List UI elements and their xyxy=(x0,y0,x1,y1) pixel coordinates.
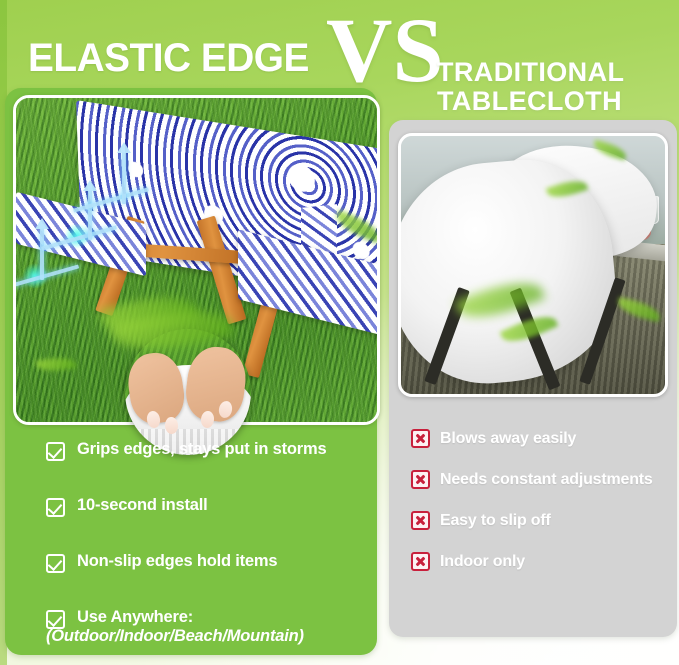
feature-item: 10-second install xyxy=(46,496,366,544)
x-mark-icon xyxy=(411,552,430,571)
x-mark-icon xyxy=(411,429,430,448)
drawback-label: Needs constant adjustments xyxy=(440,471,653,488)
wind-arrow-stem-1 xyxy=(40,228,44,280)
wind-arrow-head-3 xyxy=(117,142,131,153)
checkbox-icon xyxy=(46,610,65,629)
header-right-title: TRADITIONAL TABLECLOTH xyxy=(437,58,624,116)
header-right-title-line1: TRADITIONAL xyxy=(437,58,624,87)
feature-item: Grips edges, stays put in storms xyxy=(46,440,366,488)
header-left-title: ELASTIC EDGE xyxy=(28,36,309,81)
feature-label: Grips edges, stays put in storms xyxy=(77,440,326,458)
traditional-tablecloth-photo xyxy=(398,133,668,397)
elastic-edge-feature-list: Grips edges, stays put in storms 10-seco… xyxy=(46,440,366,664)
drawback-item: Blows away easily xyxy=(411,428,671,469)
drawback-item: Indoor only xyxy=(411,551,671,592)
drawback-label: Easy to slip off xyxy=(440,512,551,529)
feature-label: Non-slip edges hold items xyxy=(77,552,277,570)
checkbox-icon xyxy=(46,554,65,573)
checkbox-icon xyxy=(46,442,65,461)
drawback-label: Indoor only xyxy=(440,553,525,570)
header-right-title-line2: TABLECLOTH xyxy=(437,87,624,116)
drawback-label: Blows away easily xyxy=(440,430,576,447)
feature-label-sub: (Outdoor/Indoor/Beach/Mountain) xyxy=(46,627,366,646)
infographic-root: ELASTIC EDGE VS TRADITIONAL TABLECLOTH xyxy=(0,0,679,665)
feature-label: 10-second install xyxy=(77,496,207,514)
drawback-item: Needs constant adjustments xyxy=(411,469,671,510)
feature-label-main: Use Anywhere: xyxy=(77,608,193,626)
feature-item: Non-slip edges hold items xyxy=(46,552,366,600)
x-mark-icon xyxy=(411,511,430,530)
wind-arrow-stem-2 xyxy=(88,190,92,240)
feature-item: Use Anywhere: (Outdoor/Indoor/Beach/Moun… xyxy=(46,608,366,656)
drawback-item: Easy to slip off xyxy=(411,510,671,551)
traditional-drawback-list: Blows away easily Needs constant adjustm… xyxy=(411,428,671,592)
wind-arrow-stem-3 xyxy=(122,152,126,204)
wind-arrow-head-1 xyxy=(35,218,49,229)
x-mark-icon xyxy=(411,470,430,489)
versus-label: VS xyxy=(326,4,444,96)
checkbox-icon xyxy=(46,498,65,517)
feature-label: Use Anywhere: (Outdoor/Indoor/Beach/Moun… xyxy=(46,608,366,646)
wind-arrow-head-2 xyxy=(83,180,97,191)
